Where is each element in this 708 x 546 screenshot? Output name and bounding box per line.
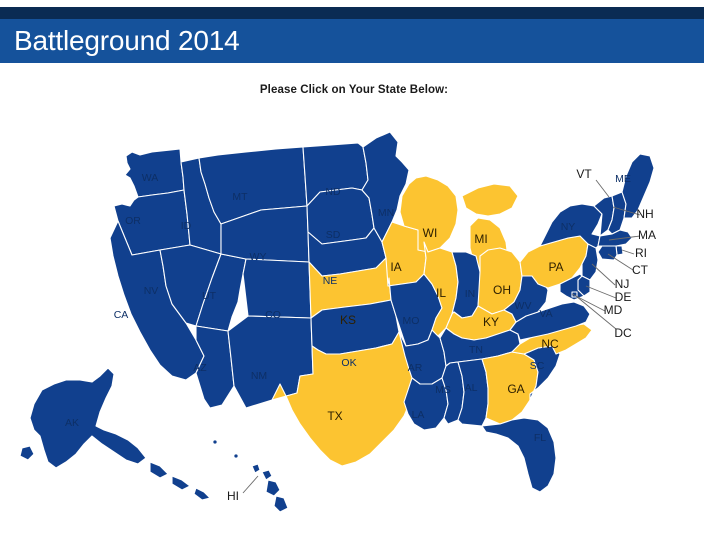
header-top-strip: [0, 7, 704, 19]
leader-line-CT: [608, 254, 633, 270]
leader-line-VT: [596, 180, 609, 197]
state-AK[interactable]: [20, 368, 210, 500]
callout-label-CT[interactable]: CT: [632, 263, 649, 277]
callout-label-RI[interactable]: RI: [635, 246, 647, 260]
instruction-text: Please Click on Your State Below:: [0, 84, 708, 96]
leader-line-HI: [243, 476, 258, 493]
state-GA[interactable]: [482, 352, 538, 424]
callout-label-MD[interactable]: MD: [604, 303, 623, 317]
state-ME[interactable]: [622, 154, 654, 218]
callout-label-MA[interactable]: MA: [638, 228, 656, 242]
us-state-map[interactable]: WAORCAIDNVUTAZMTWYCONMNDSDNEKSOKTXMNIAMO…: [0, 118, 708, 528]
page-title: Battleground 2014: [14, 24, 239, 58]
page-header: Battleground 2014: [0, 7, 704, 63]
callout-label-VT[interactable]: VT: [576, 167, 592, 181]
callout-label-DC[interactable]: DC: [614, 326, 632, 340]
state-HI-islet-1: [213, 440, 217, 444]
callout-label-NJ[interactable]: NJ: [615, 277, 630, 291]
us-map-svg[interactable]: WAORCAIDNVUTAZMTWYCONMNDSDNEKSOKTXMNIAMO…: [0, 118, 708, 528]
state-LA[interactable]: [404, 378, 448, 430]
callout-label-HI[interactable]: HI: [227, 489, 239, 503]
leader-line-NJ: [592, 264, 615, 285]
callout-label-DE[interactable]: DE: [615, 290, 632, 304]
callout-label-NH[interactable]: NH: [636, 207, 653, 221]
state-HI-islet-2: [234, 454, 238, 458]
state-SD[interactable]: [307, 188, 374, 244]
state-CO[interactable]: [243, 259, 311, 318]
leader-line-RI: [622, 250, 634, 254]
page-root: Battleground 2014 Please Click on Your S…: [0, 0, 708, 546]
state-FL[interactable]: [482, 418, 556, 492]
states-group[interactable]: [20, 132, 654, 512]
state-WA[interactable]: [125, 149, 184, 197]
state-HI[interactable]: [252, 464, 288, 512]
state-label-CA: CA: [114, 309, 129, 321]
